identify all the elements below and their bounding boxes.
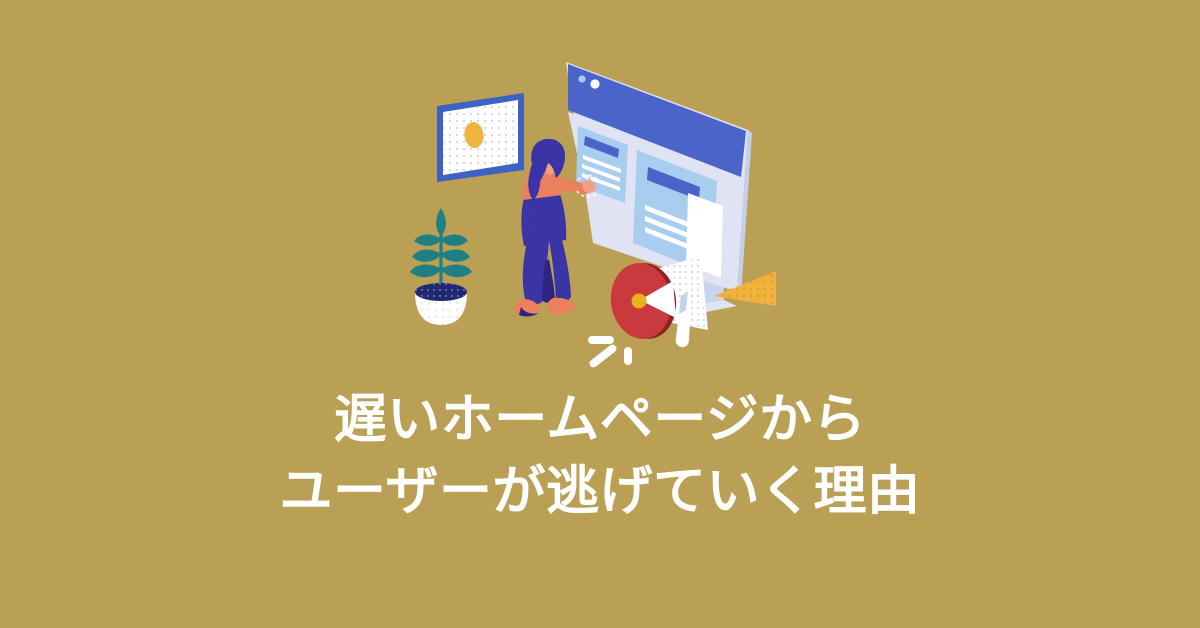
potted-plant — [410, 208, 472, 325]
wall-picture-frame — [437, 93, 524, 182]
thumbnail-canvas: 遅いホームページから ユーザーが逃げていく理由 — [0, 0, 1200, 628]
page-title-line-2: ユーザーが逃げていく理由 — [0, 456, 1200, 528]
megaphone-sound-lines — [588, 336, 632, 369]
megaphone — [588, 252, 712, 369]
page-title: 遅いホームページから ユーザーが逃げていく理由 — [0, 384, 1200, 528]
hero-illustration — [0, 0, 1200, 380]
page-title-line-1: 遅いホームページから — [0, 384, 1200, 456]
